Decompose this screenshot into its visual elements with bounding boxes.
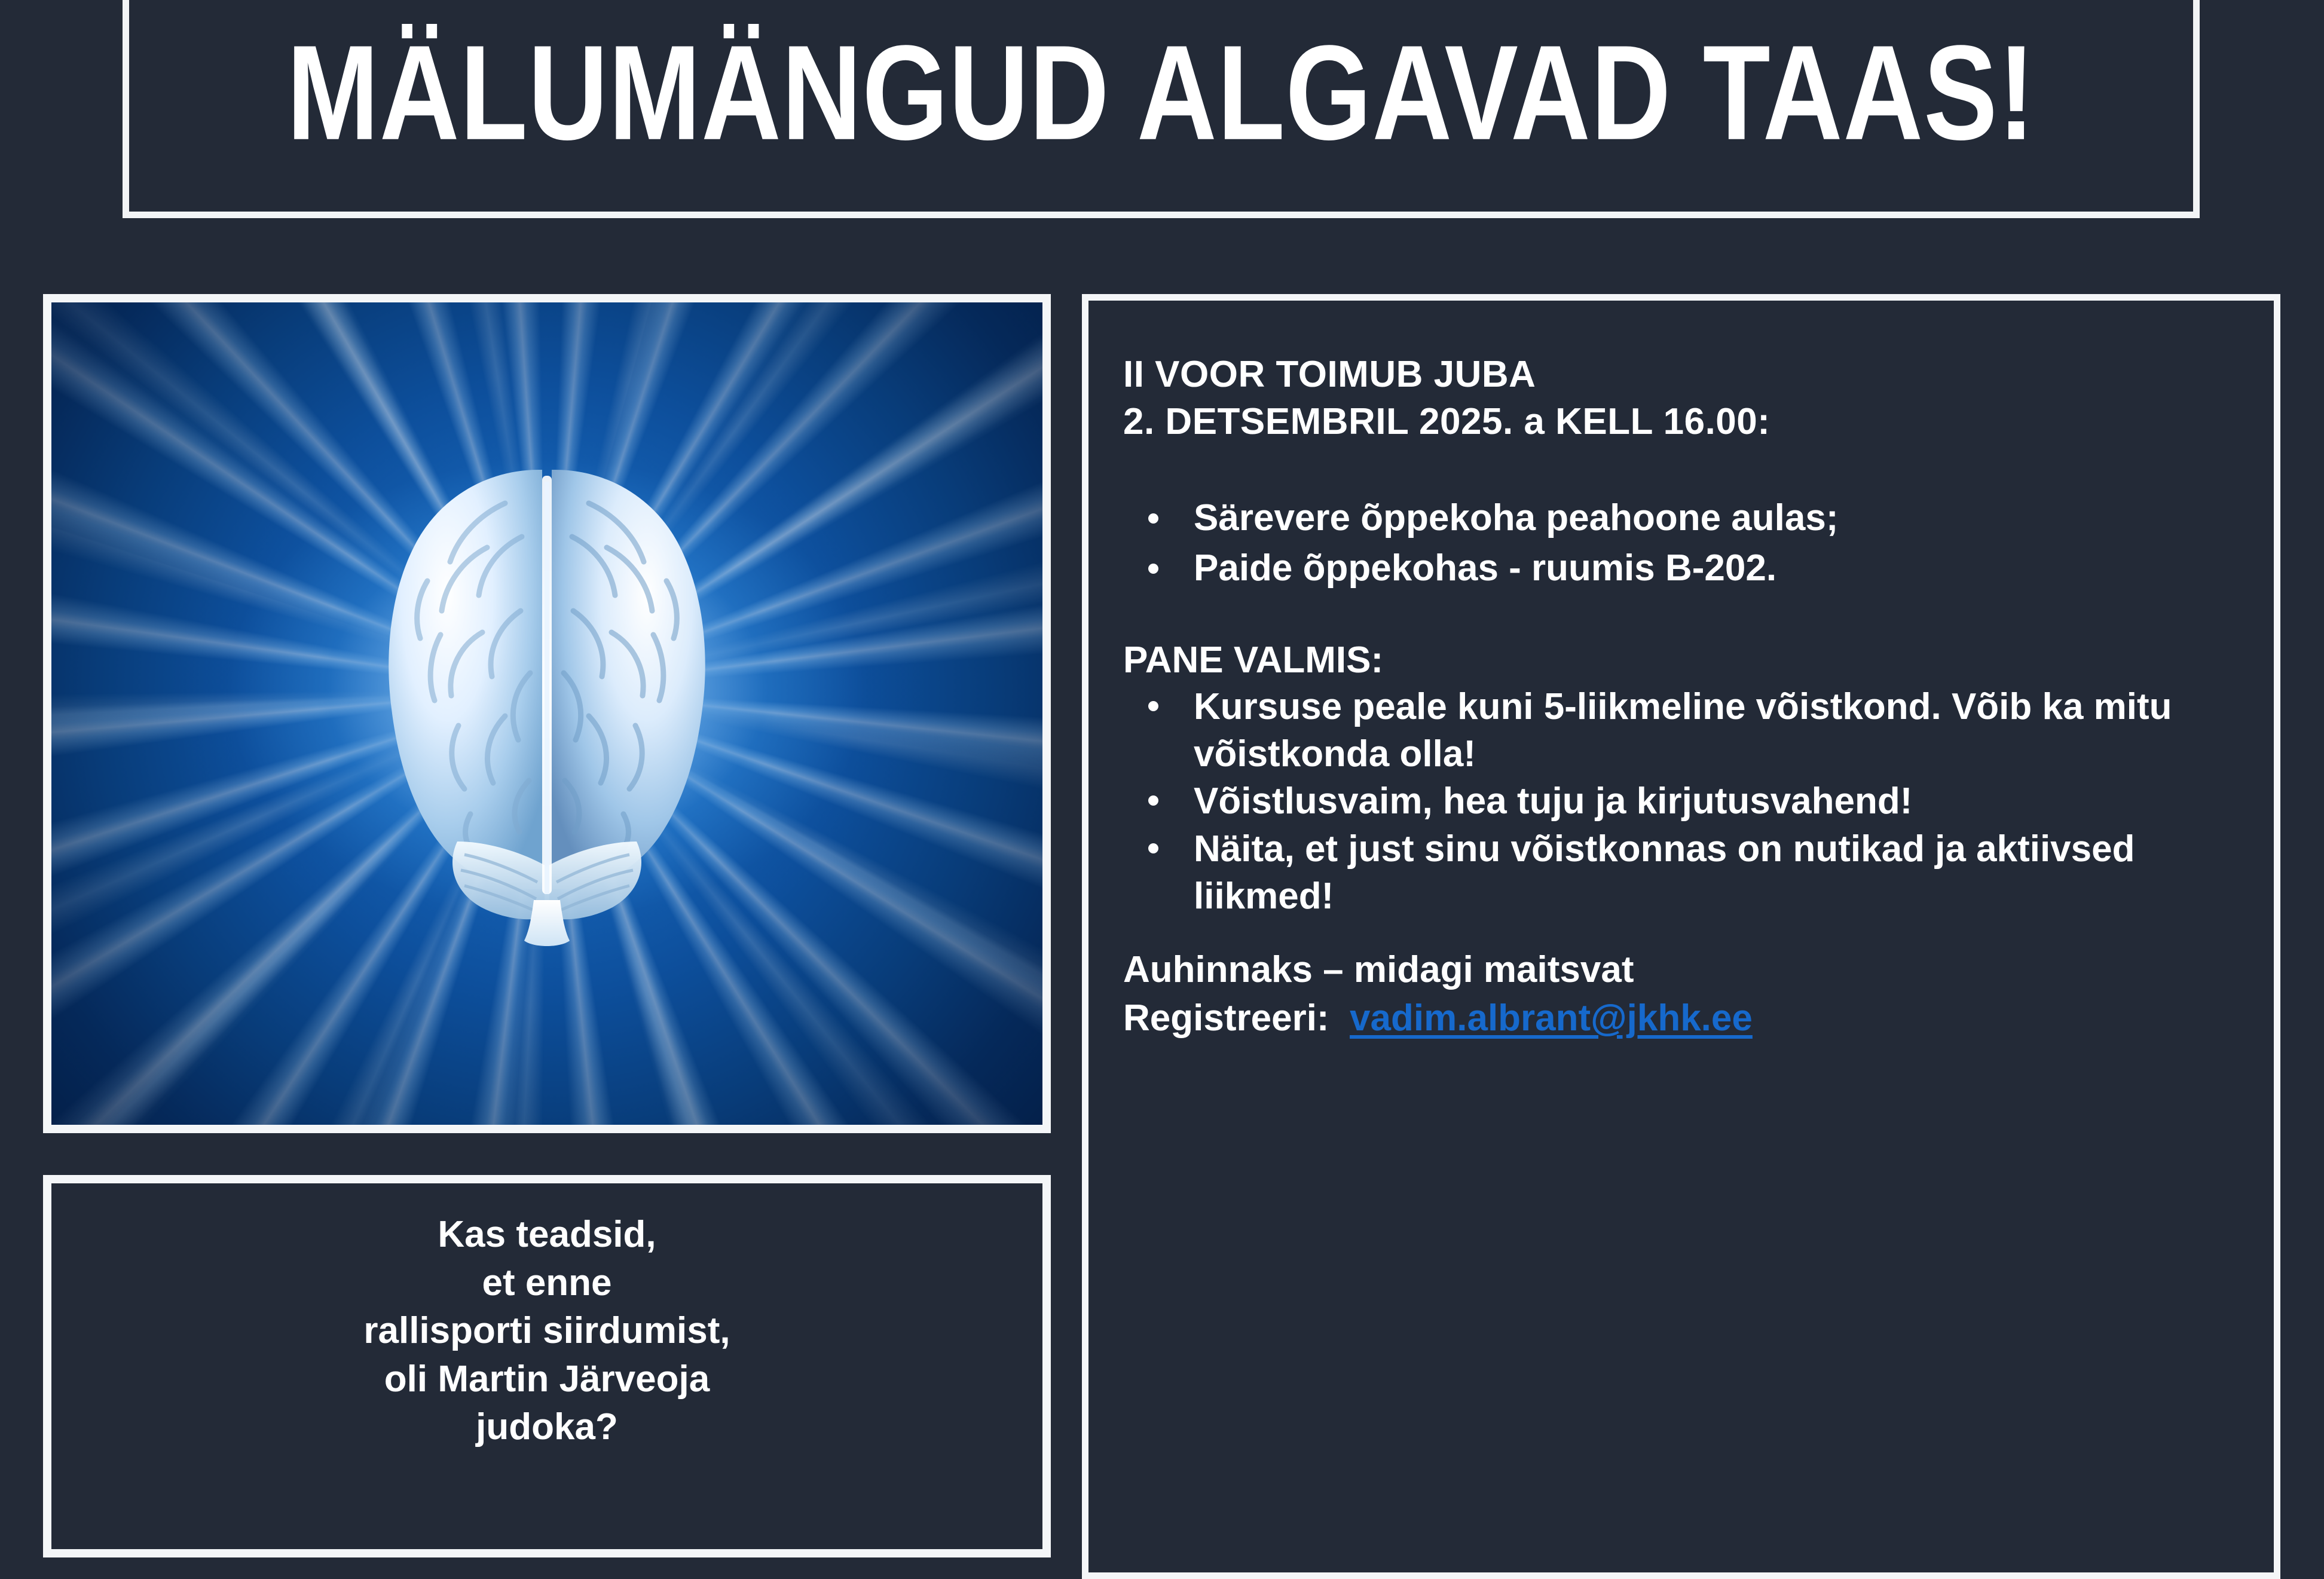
event-info-panel: II VOOR TOIMUB JUBA 2. DETSEMBRIL 2025. …	[1082, 294, 2280, 1579]
fact-line: judoka?	[75, 1403, 1019, 1452]
brain-icon	[308, 398, 786, 996]
prep-section-title: PANE VALMIS:	[1123, 638, 2274, 683]
prep-label: Näita, et just sinu võistkonnas on nutik…	[1194, 828, 2135, 917]
bullet-icon	[1148, 564, 1158, 574]
prep-label: Kursuse peale kuni 5-liikmeline võistkon…	[1194, 686, 2172, 775]
bullet-icon	[1148, 701, 1158, 711]
list-item: Näita, et just sinu võistkonnas on nutik…	[1123, 825, 2274, 920]
venue-list: Särevere õppekoha peahoone aulas; Paide …	[1123, 494, 2274, 592]
list-item: Paide õppekohas - ruumis B-202.	[1123, 544, 2274, 592]
registration-line: Registreeri: vadim.albrant@jkhk.ee	[1123, 994, 2274, 1043]
fact-line: et enne	[75, 1259, 1019, 1308]
list-item: Särevere õppekoha peahoone aulas;	[1123, 494, 2274, 541]
list-item: Kursuse peale kuni 5-liikmeline võistkon…	[1123, 683, 2274, 778]
fact-line: Kas teadsid,	[75, 1211, 1019, 1259]
fact-line: rallisporti siirdumist,	[75, 1307, 1019, 1355]
prize-line: Auhinnaks – midagi maitsvat	[1123, 946, 2274, 994]
poster-title-box: MÄLUMÄNGUD ALGAVAD TAAS!	[123, 0, 2200, 218]
bullet-icon	[1148, 843, 1158, 853]
prep-list: Kursuse peale kuni 5-liikmeline võistkon…	[1123, 683, 2274, 920]
page-title: MÄLUMÄNGUD ALGAVAD TAAS!	[287, 26, 2035, 161]
prep-label: Võistlusvaim, hea tuju ja kirjutusvahend…	[1194, 781, 1912, 822]
venue-label: Särevere õppekoha peahoone aulas;	[1194, 497, 1839, 538]
register-email-link[interactable]: vadim.albrant@jkhk.ee	[1350, 997, 1753, 1039]
bullet-icon	[1148, 513, 1158, 524]
venue-label: Paide õppekohas - ruumis B-202.	[1194, 547, 1776, 589]
date-time-heading: 2. DETSEMBRIL 2025. a KELL 16.00:	[1123, 399, 2274, 446]
list-item: Võistlusvaim, hea tuju ja kirjutusvahend…	[1123, 778, 2274, 825]
fact-line: oli Martin Järveoja	[75, 1355, 1019, 1404]
bullet-icon	[1148, 795, 1158, 806]
round-heading: II VOOR TOIMUB JUBA	[1123, 351, 2274, 399]
did-you-know-box: Kas teadsid, et enne rallisporti siirdum…	[43, 1175, 1051, 1557]
register-label: Registreeri:	[1123, 997, 1329, 1039]
brain-image-card	[43, 294, 1051, 1133]
